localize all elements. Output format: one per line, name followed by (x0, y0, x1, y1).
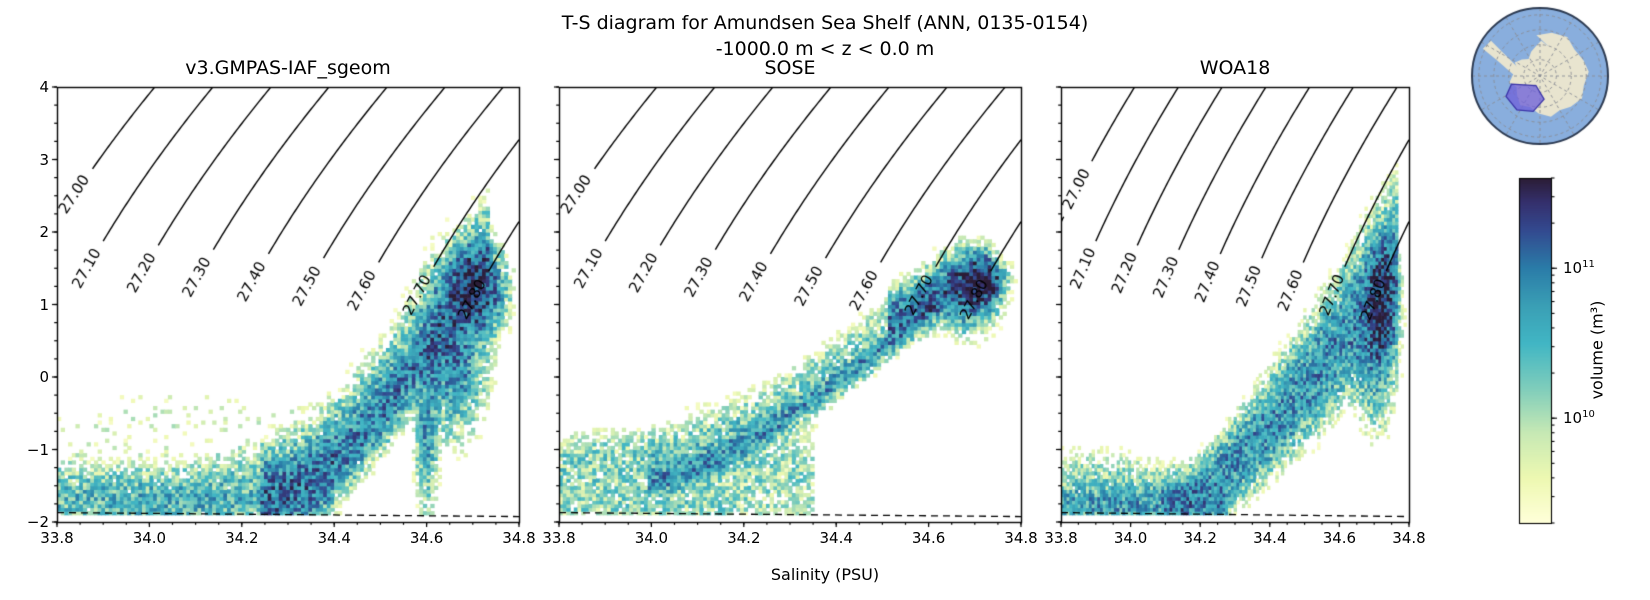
xtick-label-sose-5: 34.8 (1004, 529, 1037, 547)
panel-title-v3-gmpas-iaf-sgeom: v3.GMPAS-IAF_sgeom (185, 57, 390, 79)
ytick-label-4: 2 (39, 223, 49, 241)
panel-title-sose: SOSE (764, 57, 815, 79)
ytick-label-6: 4 (39, 78, 49, 96)
xtick-label-woa18-4: 34.6 (1323, 529, 1356, 547)
ytick-label-5: 3 (39, 151, 49, 169)
xtick-label-v3-gmpas-iaf-sgeom-3: 34.4 (317, 529, 350, 547)
xtick-label-woa18-3: 34.4 (1253, 529, 1286, 547)
xtick-label-v3-gmpas-iaf-sgeom-4: 34.6 (410, 529, 443, 547)
xtick-label-v3-gmpas-iaf-sgeom-5: 34.8 (502, 529, 535, 547)
xtick-label-woa18-5: 34.8 (1392, 529, 1425, 547)
xtick-label-woa18-0: 33.8 (1044, 529, 1077, 547)
figure-suptitle-line2: -1000.0 m < z < 0.0 m (716, 38, 935, 60)
ytick-label-2: 0 (39, 368, 49, 386)
xtick-label-v3-gmpas-iaf-sgeom-1: 34.0 (133, 529, 166, 547)
xtick-label-sose-3: 34.4 (819, 529, 852, 547)
figure-suptitle-line1: T-S diagram for Amundsen Sea Shelf (ANN,… (562, 12, 1088, 34)
ytick-label-0: −2 (27, 513, 49, 531)
ytick-label-1: −1 (27, 441, 49, 459)
xtick-label-sose-0: 33.8 (542, 529, 575, 547)
figure-root: T-S diagram for Amundsen Sea Shelf (ANN,… (0, 0, 1650, 600)
xtick-label-woa18-2: 34.2 (1183, 529, 1216, 547)
xtick-label-sose-2: 34.2 (727, 529, 760, 547)
colorbar-tick-label-0: 1010 (1563, 409, 1595, 427)
xtick-label-woa18-1: 34.0 (1114, 529, 1147, 547)
xtick-label-sose-4: 34.6 (912, 529, 945, 547)
xtick-label-sose-1: 34.0 (635, 529, 668, 547)
panel-title-woa18: WOA18 (1200, 57, 1271, 79)
ytick-label-3: 1 (39, 296, 49, 314)
ts-diagram-canvas (0, 0, 1650, 600)
xtick-label-v3-gmpas-iaf-sgeom-2: 34.2 (225, 529, 258, 547)
x-axis-label: Salinity (PSU) (771, 565, 879, 584)
colorbar-tick-label-1: 1011 (1563, 259, 1595, 277)
xtick-label-v3-gmpas-iaf-sgeom-0: 33.8 (40, 529, 73, 547)
